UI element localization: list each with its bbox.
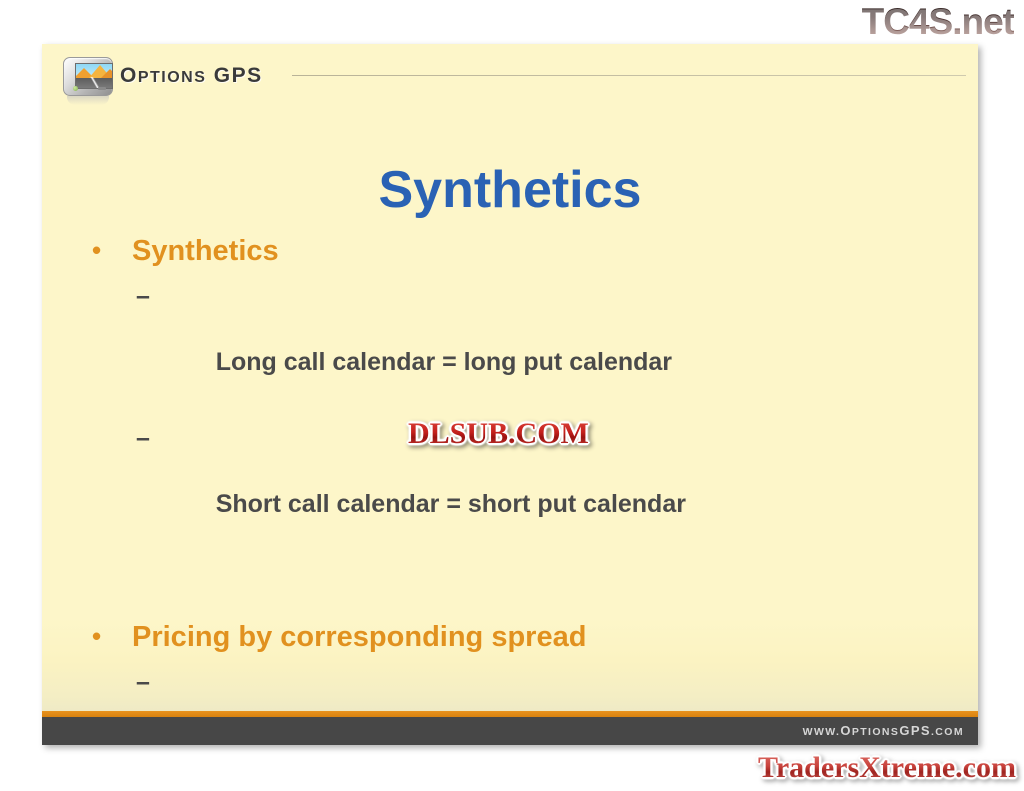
power-led-icon [73,86,78,91]
brand-name-o: O [120,64,138,87]
gps-device-body [63,57,113,96]
bullet-text: Short call calendar = short put calendar [216,490,686,518]
gps-device-icon [59,57,117,103]
dlsub-watermark: DLSUB.COM [408,417,589,451]
device-reflection [67,96,109,105]
bullet-text: Synthetics [132,235,279,267]
header-divider [292,75,966,76]
slide-footer: WWW.OPTIONSGPS.COM [42,717,978,745]
slide-body: • Synthetics – Long call calendar = long… [84,232,964,745]
brand-name-ptions: PTIONS [138,69,207,86]
slide-header: OPTIONS GPS [42,44,978,102]
bullet-marker-dash: – [136,280,150,313]
footer-url-www: WWW. [803,726,841,738]
brand-name-gps: GPS [214,64,263,87]
footer-url-ptions: PTIONS [852,726,900,738]
bullet-text: Long call calendar = long put calendar [216,348,672,376]
tc4s-watermark: TC4S.net [862,0,1014,44]
gps-device-screen [75,63,113,89]
bullet-marker-dot: • [92,231,101,269]
brand-name: OPTIONS GPS [120,64,263,88]
bullet-text: Pricing by corresponding spread [132,621,586,653]
bullet-level1-synthetics: • Synthetics [84,232,964,270]
device-button-icon [98,87,106,90]
footer-url-gps: GPS [899,723,931,738]
tradersxtreme-watermark: TradersXtreme.com [758,751,1016,785]
bullet-marker-dot: • [92,617,101,655]
footer-url-tld: .COM [931,726,964,738]
footer-url-o: O [840,723,852,738]
page-title: Synthetics [42,160,978,220]
bullet-level1-pricing-by-corresponding-spread: • Pricing by corresponding spread [84,618,964,656]
footer-url: WWW.OPTIONSGPS.COM [803,723,964,738]
presentation-slide: OPTIONS GPS Synthetics • Synthetics – Lo… [42,44,978,745]
bullet-level2-long-call-calendar: – Long call calendar = long put calendar [84,280,964,412]
bullet-marker-dash: – [136,666,150,699]
bullet-marker-dash: – [136,422,150,455]
